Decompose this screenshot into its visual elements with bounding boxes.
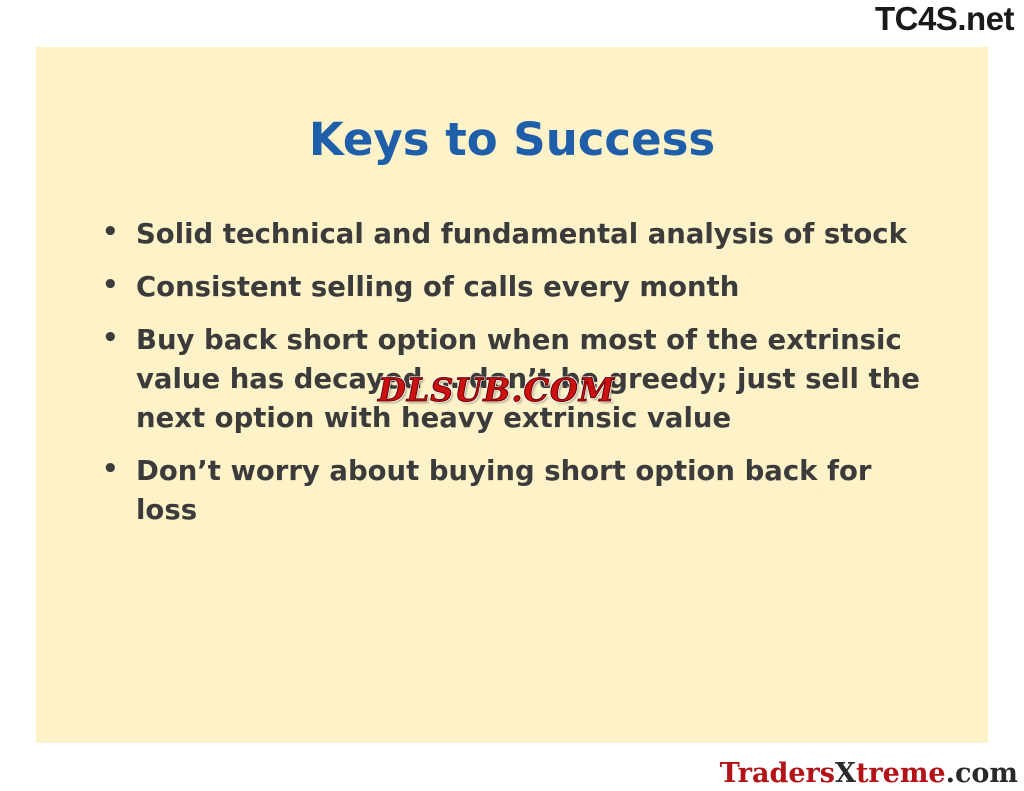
- bullet-list: Solid technical and fundamental analysis…: [94, 215, 934, 544]
- list-item: Consistent selling of calls every month: [94, 268, 934, 307]
- list-item: Buy back short option when most of the e…: [94, 321, 934, 438]
- site-logo-footer: TradersXtreme.com: [720, 760, 1018, 787]
- logo-text-dotcom: .com: [946, 758, 1018, 789]
- logo-text-traders: Traders: [720, 758, 835, 789]
- logo-text-x: X: [835, 758, 856, 789]
- logo-text-treme: treme: [856, 758, 946, 789]
- site-brand-top: TC4S.net: [875, 2, 1014, 35]
- slide-panel: Keys to Success Solid technical and fund…: [36, 47, 988, 743]
- page-title: Keys to Success: [36, 113, 988, 166]
- list-item: Don’t worry about buying short option ba…: [94, 452, 934, 530]
- list-item: Solid technical and fundamental analysis…: [94, 215, 934, 254]
